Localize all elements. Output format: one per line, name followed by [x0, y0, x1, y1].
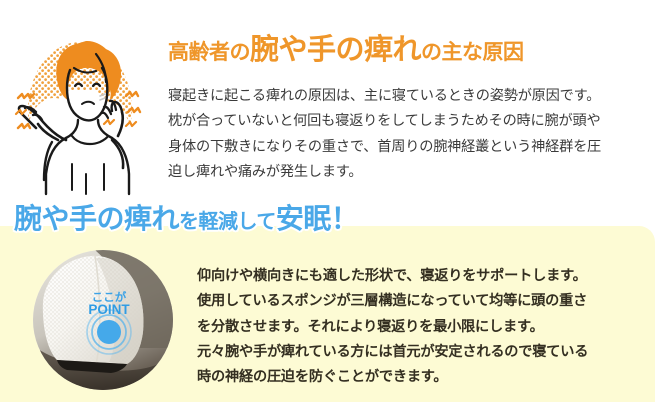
pillow-badge-line2: POINT — [88, 302, 130, 317]
cause-description: 寝起きに起こる痺れの原因は、主に寝ているときの姿勢が原因です。 枕が合っていない… — [168, 84, 655, 185]
solution-line-1: 仰向けや横向きにも適した形状で、寝返りをサポートします。 — [197, 264, 649, 289]
cause-line-3: 身体の下敷きになりその重さで、首周りの腕神経叢という神経群を圧 — [168, 135, 655, 160]
cause-section: 高齢者の腕や手の痺れの主な原因 寝起きに起こる痺れの原因は、主に寝ているときの姿… — [0, 0, 655, 206]
solution-title: 腕や手の痺れを軽減して安眠！ — [14, 205, 358, 233]
solution-line-3: を分散させます。それにより寝返りを最小限にします。 — [197, 315, 649, 340]
solution-description: 仰向けや横向きにも適した形状で、寝返りをサポートします。 使用しているスポンジが… — [197, 264, 649, 390]
page-title-part2: 腕や手の痺れ — [250, 34, 421, 66]
solution-line-2: 使用しているスポンジが三層構造になっていて均等に頭の重さ — [197, 289, 649, 314]
solution-title-part3: 安眠！ — [276, 203, 359, 234]
solution-line-5: 時の神経の圧迫を防ぐことができます。 — [197, 365, 649, 390]
cause-line-1: 寝起きに起こる痺れの原因は、主に寝ているときの姿勢が原因です。 — [168, 84, 655, 109]
product-info-page: 高齢者の腕や手の痺れの主な原因 寝起きに起こる痺れの原因は、主に寝ているときの姿… — [0, 0, 655, 402]
cause-line-2: 枕が合っていないと何回も寝返りをしてしまうためその時に腕が頭や — [168, 109, 655, 134]
solution-line-4: 元々腕や手が痺れている方には首元が安定されるので寝ている — [197, 340, 649, 365]
page-title-part1: 高齢者の — [168, 41, 250, 64]
solution-title-part2: を軽減して — [179, 211, 276, 233]
page-title: 高齢者の腕や手の痺れの主な原因 — [168, 36, 648, 65]
solution-title-part1: 腕や手の痺れ — [14, 203, 179, 234]
pillow-product-photo: ここが POINT — [33, 250, 173, 390]
cause-line-4: 迫し痺れや痛みが発生します。 — [168, 160, 655, 185]
page-title-part3: の主な原因 — [421, 41, 524, 64]
elderly-person-numb-arms-illustration — [8, 24, 168, 196]
